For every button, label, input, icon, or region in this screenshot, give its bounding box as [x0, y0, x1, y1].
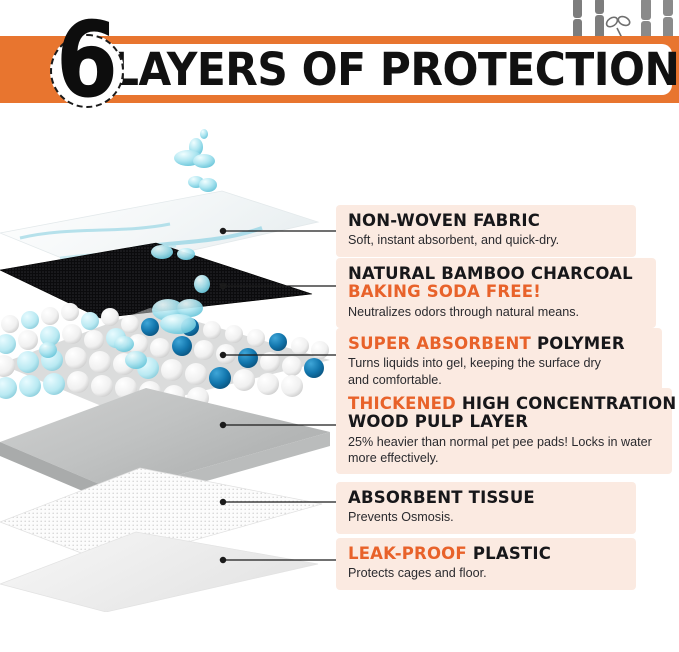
info-description-line-2: and comfortable.: [348, 372, 652, 388]
info-heading: LEAK-PROOF PLASTIC: [348, 545, 626, 563]
info-description: Protects cages and floor.: [348, 565, 626, 581]
info-description-line-1: Turns liquids into gel, keeping the surf…: [348, 355, 652, 371]
info-heading-line-2: WOOD PULP LAYER: [348, 413, 662, 431]
heading-plain: NON-WOVEN FABRIC: [348, 211, 540, 230]
info-heading: ABSORBENT TISSUE: [348, 489, 626, 507]
heading-highlight: LEAK-PROOF: [348, 544, 467, 563]
info-description: Soft, instant absorbent, and quick-dry.: [348, 232, 626, 248]
info-description-line-1: 25% heavier than normal pet pee pads! Lo…: [348, 434, 662, 450]
info-block-bamboo-charcoal: NATURAL BAMBOO CHARCOAL BAKING SODA FREE…: [336, 258, 656, 328]
info-heading: NATURAL BAMBOO CHARCOAL: [348, 265, 646, 283]
info-heading: SUPER ABSORBENT POLYMER: [348, 335, 652, 353]
heading-highlight: SUPER ABSORBENT: [348, 334, 531, 353]
heading-plain: ABSORBENT TISSUE: [348, 488, 535, 507]
info-description: Neutralizes odors through natural means.: [348, 304, 646, 320]
info-description-line-2: more effectively.: [348, 450, 662, 466]
heading-rest: POLYMER: [537, 334, 625, 353]
heading-plain: NATURAL BAMBOO CHARCOAL: [348, 264, 633, 283]
page-title: LAYERS OF PROTECTION: [112, 43, 644, 96]
info-block-absorbent-tissue: ABSORBENT TISSUE Prevents Osmosis.: [336, 482, 636, 534]
info-heading-highlight: BAKING SODA FREE!: [348, 283, 646, 301]
heading-rest: PLASTIC: [473, 544, 551, 563]
heading-highlight: THICKENED: [348, 394, 456, 413]
layer-count-number: 6: [50, 12, 124, 108]
heading-rest: HIGH CONCENTRATION: [462, 394, 676, 413]
info-block-non-woven-fabric: NON-WOVEN FABRIC Soft, instant absorbent…: [336, 205, 636, 257]
info-heading: THICKENED HIGH CONCENTRATION: [348, 395, 662, 413]
heading-highlight: BAKING SODA FREE!: [348, 282, 541, 301]
header: LAYERS OF PROTECTION 6: [0, 0, 679, 118]
info-block-leak-proof-plastic: LEAK-PROOF PLASTIC Protects cages and fl…: [336, 538, 636, 590]
info-block-super-absorbent-polymer: SUPER ABSORBENT POLYMER Turns liquids in…: [336, 328, 662, 396]
info-heading: NON-WOVEN FABRIC: [348, 212, 626, 230]
layer-leak-proof-plastic: [0, 532, 318, 612]
layer-stack-illustration: [0, 112, 340, 612]
info-block-wood-pulp-layer: THICKENED HIGH CONCENTRATION WOOD PULP L…: [336, 388, 672, 474]
info-description: Prevents Osmosis.: [348, 509, 626, 525]
